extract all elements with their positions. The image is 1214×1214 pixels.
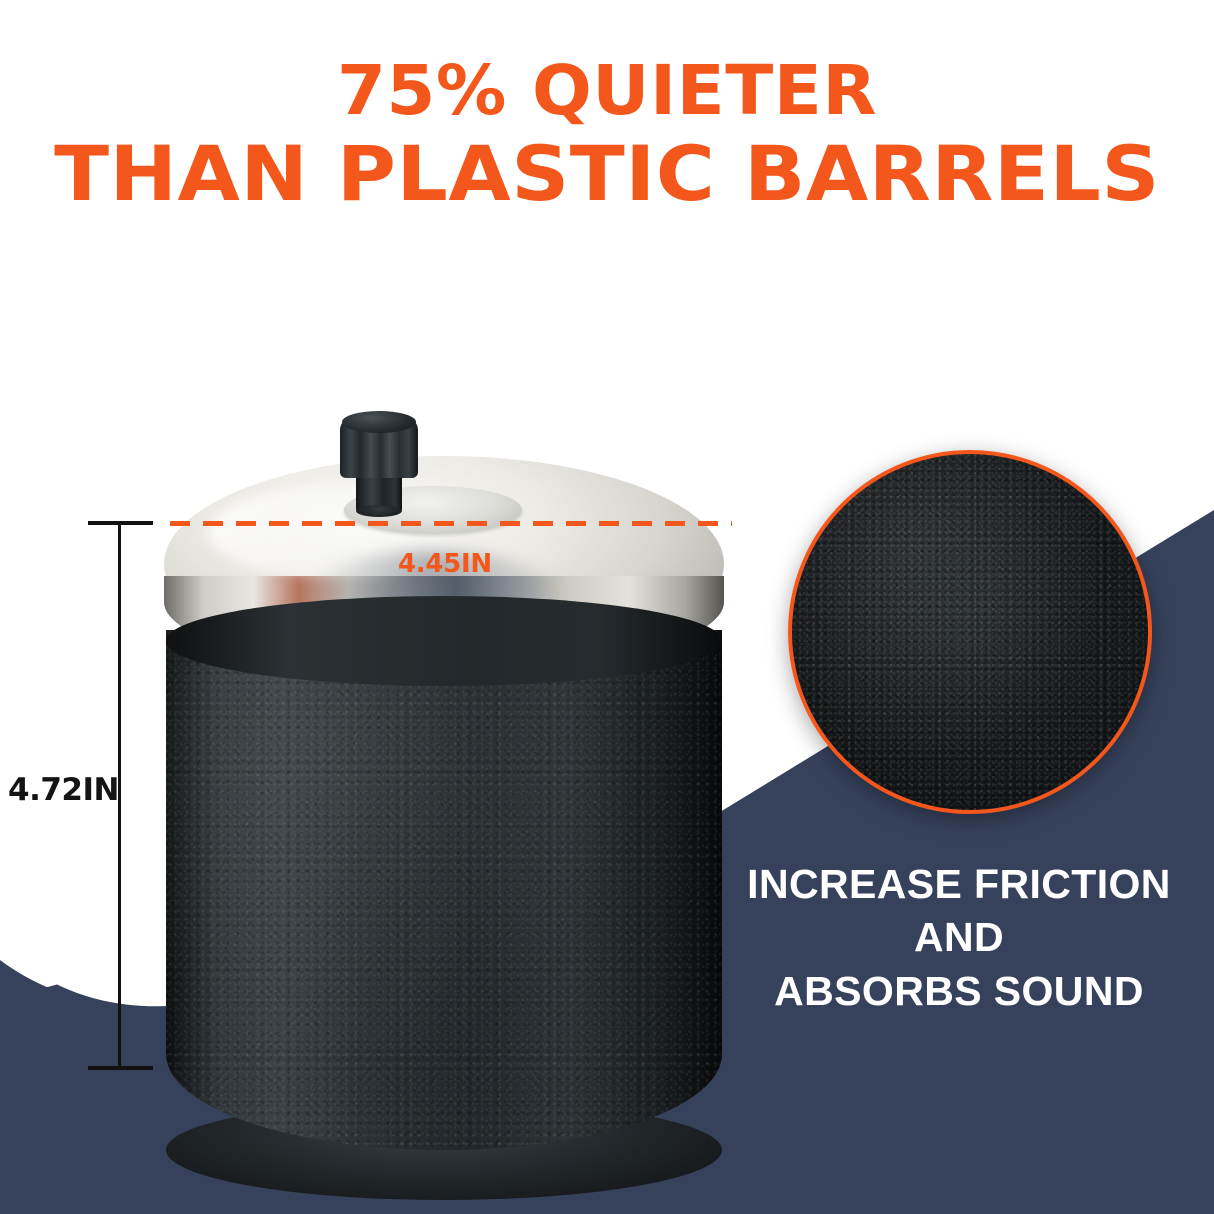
caption-line-1: INCREASE FRICTION (704, 858, 1214, 911)
barrel-grain-overlay (166, 630, 722, 1150)
magnified-texture-circle (788, 450, 1152, 814)
caption-line-3: ABSORBS SOUND (704, 965, 1214, 1018)
diameter-dimension-label: 4.45IN (398, 549, 492, 579)
product-image (148, 400, 768, 1190)
height-dimension-label: 4.72IN (8, 772, 119, 808)
texture-grain-overlay (792, 454, 1148, 810)
infographic-canvas: 75% QUIETER THAN PLASTIC BARRELS 4.72IN … (0, 0, 1214, 1214)
barrel-top-edge (166, 596, 722, 686)
feature-caption: INCREASE FRICTION AND ABSORBS SOUND (704, 858, 1214, 1018)
caption-line-2: AND (704, 911, 1214, 964)
knob-icon (340, 418, 418, 478)
headline-line-1: 75% QUIETER (0, 58, 1214, 124)
dimension-cap-bottom (88, 1066, 153, 1070)
barrel-body (166, 630, 722, 1150)
headline: 75% QUIETER THAN PLASTIC BARRELS (0, 58, 1214, 211)
headline-line-2: THAN PLASTIC BARRELS (0, 138, 1214, 211)
dimension-line-horizontal-dashed (170, 521, 732, 526)
